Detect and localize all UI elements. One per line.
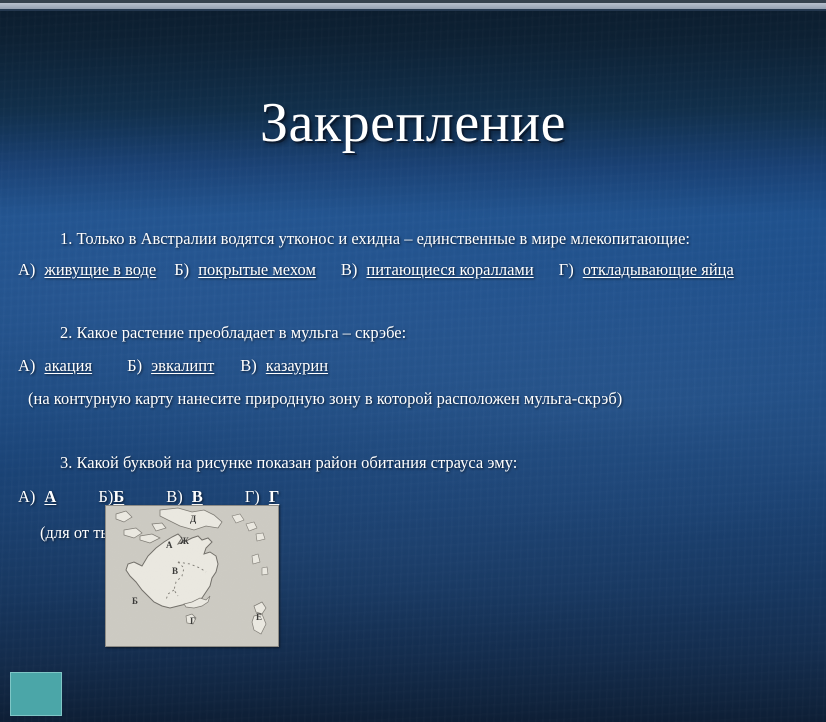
q1-answer-v-marker: В) (341, 260, 358, 279)
q1-answer-a-text[interactable]: живущие в воде (44, 260, 156, 279)
q3-answer-b-text[interactable]: Б (113, 487, 124, 506)
q3-answer-a-marker: А) (18, 487, 35, 506)
question-1-answers: А)живущие в водеБ)покрытые мехомВ)питающ… (0, 259, 826, 281)
question-2-answer-row: А)акацияБ)эвкалиптВ)казаурин (0, 355, 826, 377)
question-1-answer-row: А)живущие в водеБ)покрытые мехомВ)питающ… (0, 259, 826, 281)
question-2-prompt: 2. Какое растение преобладает в мульга –… (0, 322, 826, 344)
question-2-note-block: (на контурную карту нанесите природную з… (0, 388, 826, 410)
q2-answer-a-marker: А) (18, 356, 35, 375)
q1-answer-a-marker: А) (18, 260, 35, 279)
q1-answer-g-marker: Г) (559, 260, 574, 279)
question-3-prompt: 3. Какой буквой на рисунке показан район… (0, 452, 826, 474)
q3-answer-b-marker: Б) (98, 487, 113, 506)
q3-answer-g-text[interactable]: Г (269, 487, 280, 506)
q1-answer-v-text[interactable]: питающиеся кораллами (366, 260, 533, 279)
australia-region-map: Д А Ж В Б Г Е (105, 505, 279, 647)
q2-answer-b-marker: Б) (127, 356, 142, 375)
q3-answer-v-text[interactable]: В (192, 487, 203, 506)
q3-answer-g-marker: Г) (245, 487, 260, 506)
question-1-prompt: 1. Только в Австралии водятся утконос и … (0, 228, 826, 250)
q2-answer-v-marker: В) (240, 356, 257, 375)
q2-answer-b-text[interactable]: эвкалипт (151, 356, 214, 375)
question-2-note: (на контурную карту нанесите природную з… (0, 388, 826, 410)
question-3-block: 3. Какой буквой на рисунке показан район… (0, 452, 826, 474)
q1-answer-b-text[interactable]: покрытые мехом (198, 260, 316, 279)
q1-answer-g-text[interactable]: откладывающие яйца (583, 260, 734, 279)
slide-title: Закрепление (0, 92, 826, 154)
q3-answer-a-text[interactable]: А (44, 487, 56, 506)
top-chrome-bar (0, 0, 826, 11)
question-2-block: 2. Какое растение преобладает в мульга –… (0, 322, 826, 344)
question-2-answers: А)акацияБ)эвкалиптВ)казаурин (0, 355, 826, 377)
presentation-slide: Закрепление 1. Только в Австралии водятс… (0, 0, 826, 722)
teal-color-swatch[interactable] (10, 672, 62, 716)
q2-answer-a-text[interactable]: акация (44, 356, 92, 375)
australia-map-svg: Д А Ж В Б Г Е (106, 506, 278, 646)
question-1-block: 1. Только в Австралии водятся утконос и … (0, 228, 826, 250)
q2-answer-v-text[interactable]: казаурин (266, 356, 328, 375)
q3-answer-v-marker: В) (166, 487, 183, 506)
q1-answer-b-marker: Б) (174, 260, 189, 279)
topbar-edge-band (0, 9, 826, 11)
